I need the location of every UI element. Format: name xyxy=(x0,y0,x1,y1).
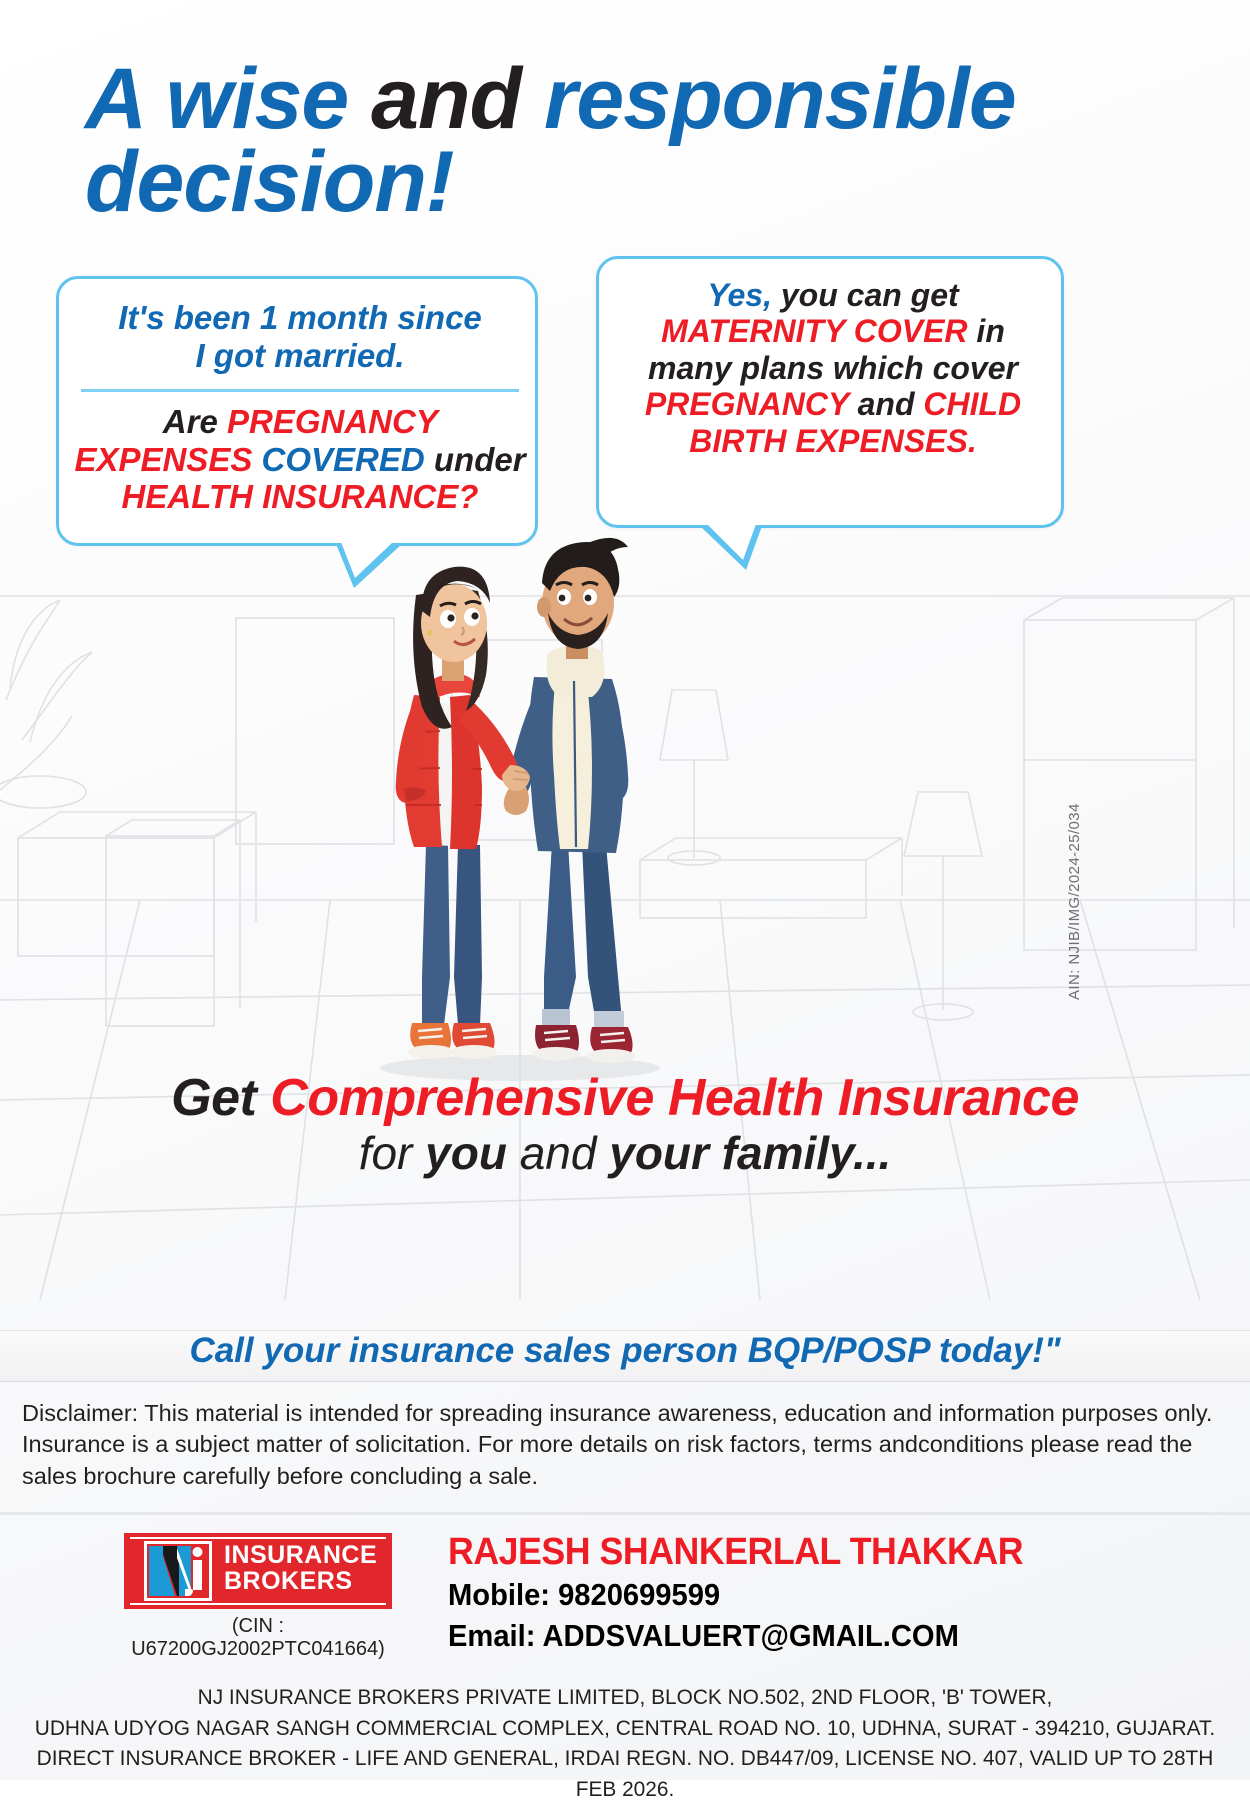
q-under: under xyxy=(425,441,526,478)
cta-text: Call your insurance sales person BQP/POS… xyxy=(0,1331,1250,1371)
a-you-can-get: you can get xyxy=(772,277,959,313)
address-line-2: UDHNA UDYOG NAGAR SANGH COMMERCIAL COMPL… xyxy=(19,1713,1232,1744)
logo-word-brokers: BROKERS xyxy=(224,1568,377,1594)
q-pregnancy: PREGNANCY xyxy=(227,403,437,440)
headline-part-a: A wise xyxy=(85,51,371,147)
company-address-footer: NJ INSURANCE BROKERS PRIVATE LIMITED, BL… xyxy=(0,1682,1250,1804)
bubble-left-line1: It's been 1 month since xyxy=(77,299,523,337)
headline-part-b: and xyxy=(371,51,544,147)
agent-contact-block: RAJESH SHANKERLAL THAKKAR Mobile: 982069… xyxy=(448,1532,1088,1655)
page-title: A wise and responsible decision! xyxy=(85,60,1085,222)
ain-code: AIN: NJIB/IMG/2024-25/034 xyxy=(1066,803,1083,1000)
agent-name: RAJESH SHANKERLAL THAKKAR xyxy=(448,1532,1050,1573)
a-pregnancy: PREGNANCY xyxy=(645,386,849,422)
logo-wordmark: INSURANCE BROKERS xyxy=(224,1542,377,1594)
q-are: Are xyxy=(163,403,227,440)
tagline-for: for xyxy=(359,1127,425,1179)
speech-bubble-answer: Yes, you can get MATERNITY COVER in many… xyxy=(596,256,1064,528)
bubble-left-divider xyxy=(81,389,519,392)
bubble-left-line2: I got married. xyxy=(77,337,523,375)
tagline-you: you xyxy=(425,1127,507,1179)
footer-divider xyxy=(0,1512,1250,1515)
bubble-right-line1: Yes, you can get xyxy=(615,277,1051,313)
headline-line2: decision! xyxy=(85,143,1085,222)
couple-illustration xyxy=(330,525,710,1085)
speech-bubble-question: It's been 1 month since I got married. A… xyxy=(56,276,538,546)
a-maternity-cover: MATERNITY COVER xyxy=(661,313,967,349)
a-birth-expenses: BIRTH EXPENSES. xyxy=(615,423,1051,459)
agent-email[interactable]: Email: ADDSVALUERT@GMAIL.COM xyxy=(448,1617,1050,1655)
disclaimer-text: Disclaimer: This material is intended fo… xyxy=(22,1398,1230,1492)
headline-part-c: responsible xyxy=(544,51,1016,147)
tagline-get: Get xyxy=(171,1069,270,1127)
tagline-comprehensive: Comprehensive Health Insurance xyxy=(270,1069,1079,1127)
nj-monogram-icon xyxy=(144,1541,212,1601)
bubble-right-answer: Yes, you can get MATERNITY COVER in many… xyxy=(615,277,1051,459)
a-in: in xyxy=(968,313,1005,349)
bubble-right-line2: MATERNITY COVER in xyxy=(615,313,1051,349)
a-many-plans: many plans which cover xyxy=(615,350,1051,386)
q-health-insurance: HEALTH INSURANCE? xyxy=(122,478,479,515)
tagline-block: Get Comprehensive Health Insurance for y… xyxy=(0,1070,1250,1179)
q-covered: COVERED xyxy=(262,441,425,478)
q-expenses: EXPENSES xyxy=(74,441,261,478)
address-line-3: DIRECT INSURANCE BROKER - LIFE AND GENER… xyxy=(19,1743,1232,1804)
cin-number: (CIN : U67200GJ2002PTC041664) xyxy=(124,1615,392,1661)
logo-word-insurance: INSURANCE xyxy=(224,1542,377,1568)
bubble-left-question: Are PREGNANCY EXPENSES COVERED under HEA… xyxy=(71,403,529,516)
logo-red-panel: INSURANCE BROKERS xyxy=(124,1533,392,1609)
a-yes: Yes, xyxy=(707,277,772,313)
tagline-line2: for you and your family... xyxy=(0,1128,1250,1179)
poster-root: A wise and responsible decision! It's be… xyxy=(0,0,1250,1780)
agent-mobile[interactable]: Mobile: 9820699599 xyxy=(448,1576,1050,1614)
bubble-right-tail-fill xyxy=(707,524,756,560)
a-and: and xyxy=(849,386,924,422)
brand-logo-block: INSURANCE BROKERS (CIN : U67200GJ2002PTC… xyxy=(124,1533,414,1661)
bubble-right-line4: PREGNANCY and CHILD xyxy=(615,386,1051,422)
tagline-your-family: your family... xyxy=(609,1127,891,1179)
bubble-left-intro: It's been 1 month since I got married. xyxy=(77,299,523,374)
tagline-line1: Get Comprehensive Health Insurance xyxy=(0,1070,1250,1126)
a-child: CHILD xyxy=(923,386,1021,422)
tagline-and: and xyxy=(507,1127,609,1179)
address-line-1: NJ INSURANCE BROKERS PRIVATE LIMITED, BL… xyxy=(19,1682,1232,1713)
